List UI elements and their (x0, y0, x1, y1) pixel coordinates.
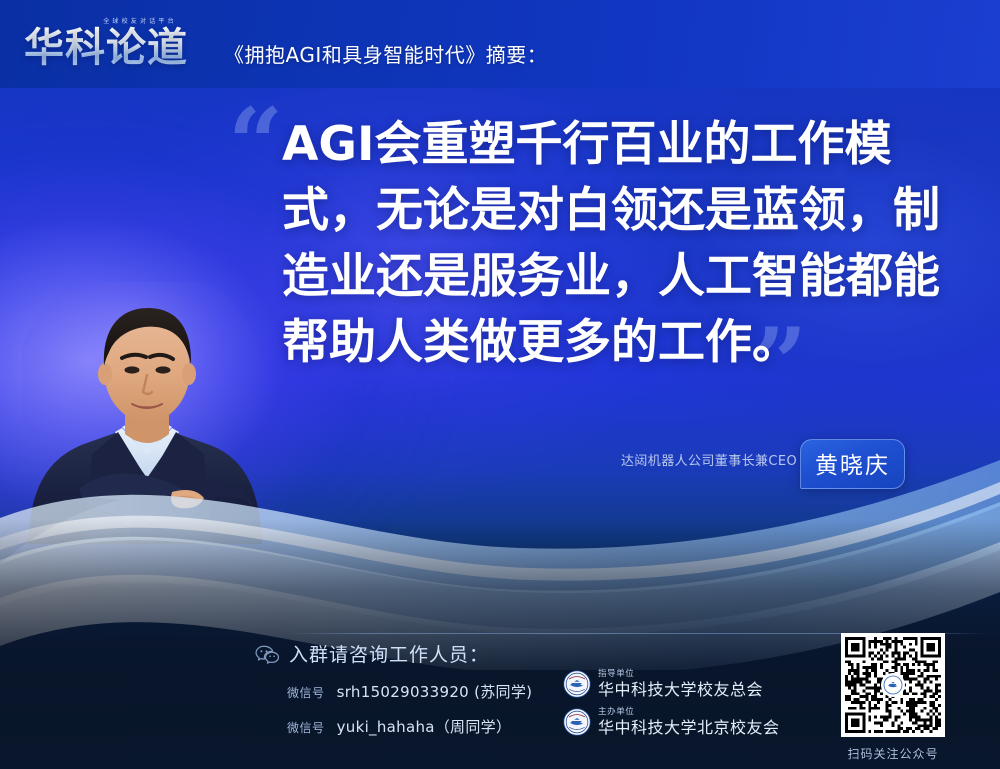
qr-center-emblem-icon (881, 673, 905, 697)
quote-open-mark: “ (228, 96, 283, 192)
quote-line: AGI会重塑千行百业的工作模 (282, 112, 942, 178)
wechat-icon (255, 645, 281, 665)
quote-line: 式，无论是对白领还是蓝领，制 (282, 178, 942, 244)
quote-text: AGI会重塑千行百业的工作模 式，无论是对白领还是蓝领，制 造业还是服务业，人工… (282, 112, 942, 376)
qr-code[interactable] (841, 633, 945, 737)
organization-name: 华中科技大学校友总会 (598, 682, 763, 698)
brand-logo-text: 华科论道 (24, 25, 224, 71)
hust-emblem-icon (563, 708, 591, 736)
organization-text: 主办单位 华中科技大学北京校友会 (598, 708, 780, 736)
speaker-name-badge: 黄晓庆 (800, 439, 905, 489)
wechat-id: yuki_hahaha（周同学） (337, 718, 512, 736)
wechat-label: 微信号 (287, 721, 325, 735)
organization-row: 指导单位 华中科技大学校友总会 (563, 670, 763, 698)
brand-logo[interactable]: 全球校友对话平台 华科论道 (24, 16, 224, 74)
organization-name: 华中科技大学北京校友会 (598, 720, 780, 736)
quote-line: 造业还是服务业，人工智能都能 (282, 244, 942, 310)
contact-title: 入群请咨询工作人员： (289, 640, 489, 667)
page-title: 《拥抱AGI和具身智能时代》摘要： (224, 39, 547, 68)
organization-text: 指导单位 华中科技大学校友总会 (598, 670, 763, 698)
wechat-id: srh15029033920 (苏同学) (337, 683, 533, 701)
quote-line: 帮助人类做更多的工作。 (282, 310, 942, 376)
organization-caption: 主办单位 (598, 708, 780, 717)
wechat-label: 微信号 (287, 686, 325, 700)
hust-emblem-icon (563, 670, 591, 698)
organization-row: 主办单位 华中科技大学北京校友会 (563, 708, 780, 736)
brand-tagline: 全球校友对话平台 (80, 16, 200, 25)
qr-caption: 扫码关注公众号 (841, 745, 945, 762)
poster-root: 全球校友对话平台 华科论道 《拥抱AGI和具身智能时代》摘要： “ ” AGI会… (0, 0, 1000, 769)
wechat-contact-row[interactable]: 微信号 yuki_hahaha（周同学） (287, 716, 511, 737)
wechat-contact-row[interactable]: 微信号 srh15029033920 (苏同学) (287, 681, 532, 702)
organization-caption: 指导单位 (598, 670, 763, 679)
speaker-role: 达闼机器人公司董事长兼CEO (621, 450, 797, 469)
